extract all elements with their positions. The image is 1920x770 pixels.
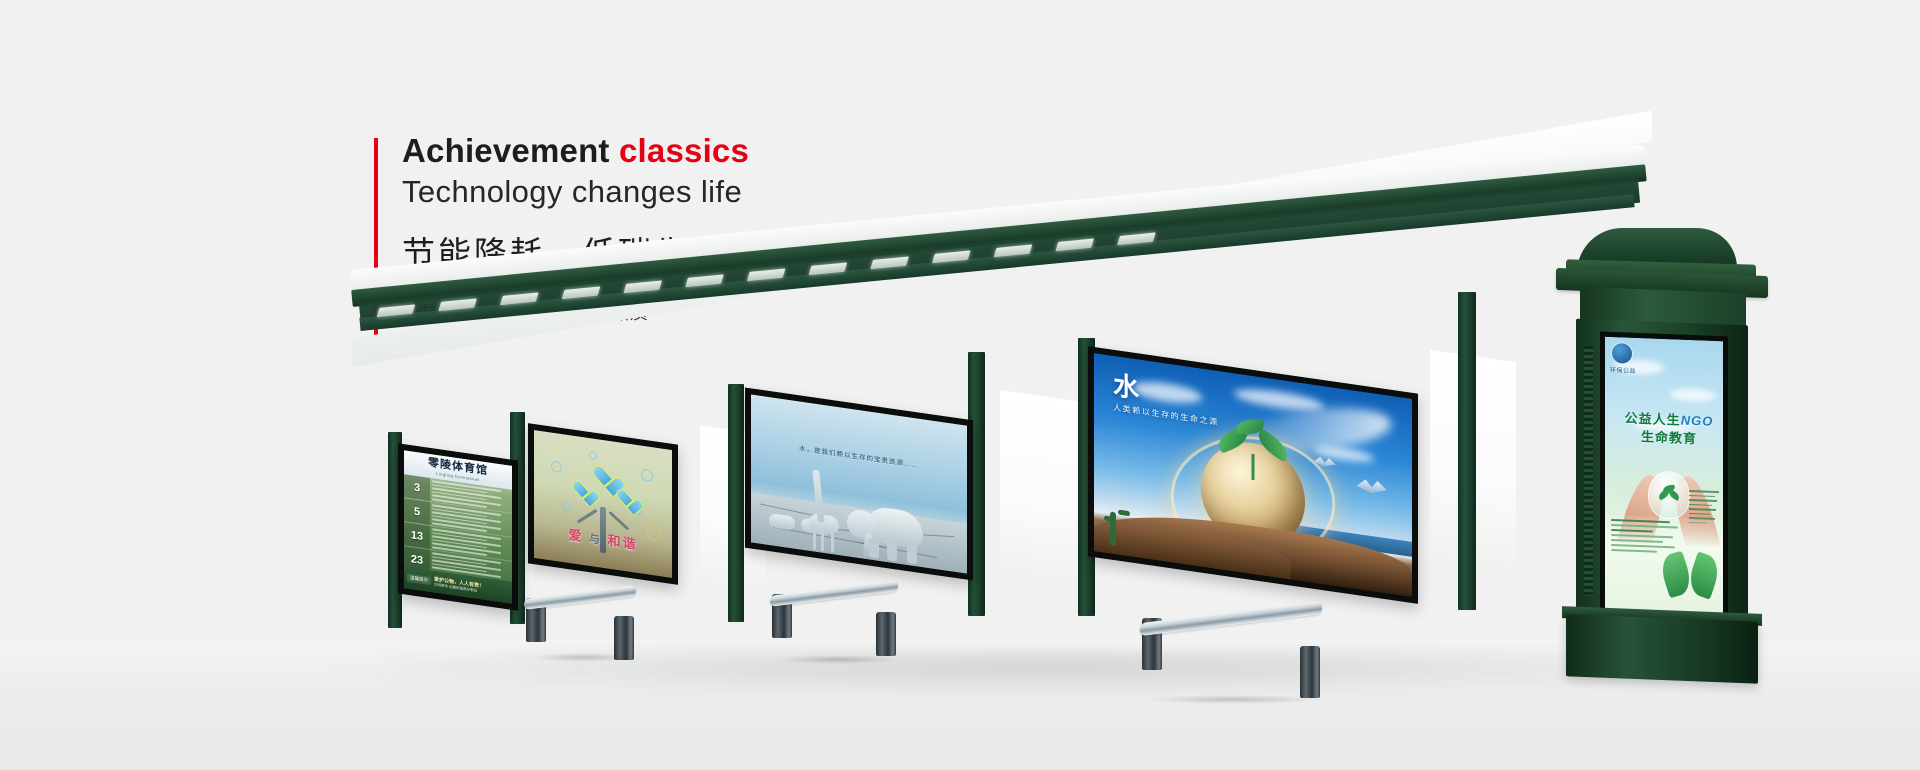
route-number: 13 (404, 522, 430, 549)
wildlife-water-art: 水，是我们赖以生存的宝贵资源…… (751, 394, 967, 573)
caption-conjunction: 与 (589, 533, 602, 547)
route-info-frame: 零陵体育馆 Lingling Gymnasium 3 5 (398, 443, 518, 610)
bus-shelter: 零陵体育馆 Lingling Gymnasium 3 5 (0, 0, 1920, 770)
ad-panel-frame: 爱 与 和谐 (528, 423, 678, 585)
ad-panel-ngo[interactable]: 环保公益 公益人生NGO 生命教育 (1600, 332, 1728, 621)
tower-base (1566, 614, 1758, 683)
water-life-art: 水 人类赖以生存的生命之源 (1094, 353, 1412, 597)
ngo-logo-text: 环保公益 (1610, 365, 1636, 375)
ad-panel-water-life[interactable]: 水 人类赖以生存的生命之源 (1088, 346, 1418, 604)
ngo-logo-icon (1612, 343, 1632, 364)
bench-1 (524, 592, 636, 654)
caption-part-1: 爱 (568, 527, 583, 544)
ngo-footer-text (1611, 519, 1681, 557)
support-post-3 (728, 384, 744, 622)
heart-icon (615, 489, 637, 512)
bench-leg (876, 612, 896, 656)
back-wall-3 (1000, 390, 1084, 584)
ad-panel-frame: 水，是我们赖以生存的宝贵资源…… (745, 388, 973, 581)
caption-part-2: 和谐 (608, 532, 638, 551)
bench-shadow (776, 655, 899, 664)
sprout-graphic (1214, 414, 1292, 485)
route-number: 5 (404, 498, 430, 525)
route-rows: 3 5 (404, 474, 512, 582)
notice-message: 爱护公物，人人有责！ 文明乘车 创建和谐美好家园 (434, 576, 484, 594)
route-number: 3 (404, 474, 430, 501)
water-poster-title: 水 (1113, 372, 1139, 402)
bench-2 (770, 588, 898, 656)
bench-shadow (530, 653, 638, 662)
ngo-poster-art: 环保公益 公益人生NGO 生命教育 (1605, 337, 1723, 616)
ngo-headline-part-2: 生命教育 (1641, 429, 1697, 446)
scene-canvas: Achievement classics Technology changes … (0, 0, 1920, 770)
bench-seat (770, 580, 898, 607)
bench-leg (1300, 646, 1320, 698)
tower-flute-detail (1584, 346, 1593, 596)
support-post-6 (1458, 292, 1476, 610)
bench-shadow (1146, 695, 1321, 704)
heart-icon (591, 465, 617, 493)
bench-seat (1140, 601, 1322, 636)
notice-tag: 温馨提示 (407, 573, 431, 585)
ngo-headline-part-1: 公益人生 (1625, 410, 1681, 427)
ad-panel-frame: 水 人类赖以生存的生命之源 (1088, 346, 1418, 604)
ngo-headline-acronym: NGO (1681, 413, 1714, 429)
bench-3 (1140, 612, 1322, 696)
seedling-icon (1658, 485, 1680, 512)
leaf-ribbon-icon (1663, 553, 1717, 609)
ad-panel-wildlife-water[interactable]: 水，是我们赖以生存的宝贵资源…… (745, 388, 973, 581)
ngo-headline: 公益人生NGO 生命教育 (1611, 409, 1723, 449)
ngo-footer-block (1605, 515, 1723, 616)
ad-panel-love-harmony[interactable]: 爱 与 和谐 (528, 423, 678, 585)
love-harmony-art: 爱 与 和谐 (534, 430, 672, 578)
heart-icon (571, 480, 593, 503)
wildlife-tagline: 水，是我们赖以生存的宝贵资源…… (799, 443, 919, 470)
route-info-panel[interactable]: 零陵体育馆 Lingling Gymnasium 3 5 (398, 443, 518, 610)
route-board-art: 零陵体育馆 Lingling Gymnasium 3 5 (404, 450, 512, 604)
